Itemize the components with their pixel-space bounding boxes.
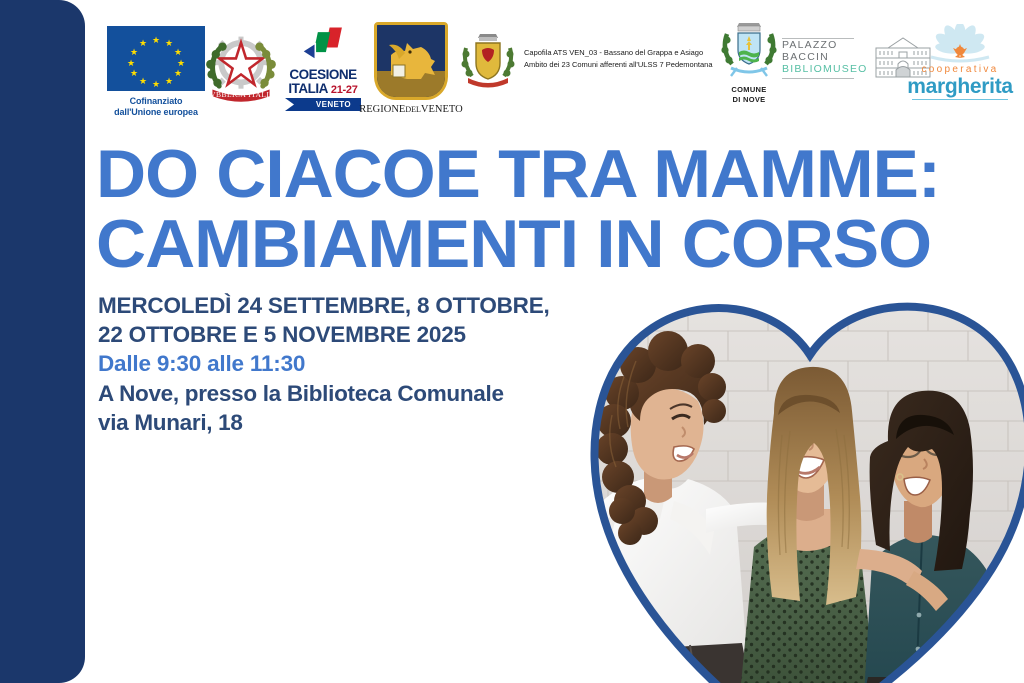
margherita-rule <box>912 99 1008 100</box>
bassano-text-line1: Capofila ATS VEN_03 - Bassano del Grappa… <box>524 47 713 59</box>
event-place-line1: A Nove, presso la Biblioteca Comunale <box>98 379 628 408</box>
eu-caption-line1: Cofinanziato <box>114 96 198 107</box>
margherita-line2: margherita <box>907 76 1013 98</box>
comune-di-nove-logo: COMUNE DI NOVE <box>717 18 781 105</box>
headline-line1: DO CIACOE TRA MAMME: <box>96 139 1014 209</box>
bassano-crest-icon <box>460 28 516 90</box>
coesione-line1: COESIONE <box>289 68 356 82</box>
headline-line2: CAMBIAMENTI IN CORSO <box>96 209 1014 279</box>
regione-veneto-logo: REGIONEDELVENETO <box>356 22 466 115</box>
eu-caption-line2: dall'Unione europea <box>114 107 198 118</box>
heart-photo-frame <box>578 295 1024 683</box>
comune-di-nove-crest-icon <box>721 18 777 84</box>
event-date-line1: MERCOLEDÌ 24 SETTEMBRE, 8 OTTOBRE, <box>98 291 628 320</box>
three-women-photo <box>578 295 1024 683</box>
event-info-block: MERCOLEDÌ 24 SETTEMBRE, 8 OTTOBRE, 22 OT… <box>98 291 628 437</box>
eu-caption: Cofinanziato dall'Unione europea <box>114 96 198 118</box>
svg-text:REPVBBLICA ITALIANA: REPVBBLICA ITALIANA <box>199 90 283 99</box>
comune-di-nove-caption: COMUNE DI NOVE <box>731 85 766 105</box>
event-date-line2: 22 OTTOBRE E 5 NOVEMBRE 2025 <box>98 320 628 349</box>
rv-cap2: DEL <box>405 105 421 114</box>
palazzo-baccin-line3: BIBLIOMUSEO <box>782 63 868 75</box>
palazzo-baccin-line1: PALAZZO <box>782 39 868 51</box>
cooperativa-margherita-logo: cooperativa margherita <box>908 24 1012 100</box>
coesione-region-badge: VENETO <box>285 98 361 111</box>
poster-canvas: ★ ★ ★ ★ ★ ★ ★ ★ ★ ★ ★ ★ Cofinanziato dal… <box>0 0 1024 683</box>
coesione-chevrons-icon <box>296 26 350 66</box>
coesione-line2: ITALIA <box>288 82 328 96</box>
daisy-flower-icon <box>917 24 1003 64</box>
left-accent-bar <box>0 0 85 683</box>
palazzo-baccin-line2: BACCIN <box>782 51 868 63</box>
poster-headline: DO CIACOE TRA MAMME: CAMBIAMENTI IN CORS… <box>96 139 1014 279</box>
regione-veneto-shield-icon <box>374 22 448 100</box>
eu-flag-icon: ★ ★ ★ ★ ★ ★ ★ ★ ★ ★ ★ ★ <box>107 26 205 91</box>
coesione-years: 21-27 <box>331 84 358 96</box>
event-time: Dalle 9:30 alle 11:30 <box>98 349 628 379</box>
bassano-text-line2: Ambito dei 23 Comuni afferenti all'ULSS … <box>524 59 713 71</box>
palazzo-baccin-rule-bottom <box>782 78 854 79</box>
rv-cap1: REGIONE <box>359 104 405 115</box>
repubblica-italiana-logo: REPVBBLICA ITALIANA <box>195 24 287 108</box>
rv-cap3: VENETO <box>421 104 463 115</box>
logo-strip: ★ ★ ★ ★ ★ ★ ★ ★ ★ ★ ★ ★ Cofinanziato dal… <box>100 8 1024 112</box>
nove-cap-line2: DI NOVE <box>731 95 766 105</box>
repubblica-italiana-emblem-icon: REPVBBLICA ITALIANA <box>199 24 283 108</box>
regione-veneto-caption: REGIONEDELVENETO <box>359 104 462 115</box>
ats-bassano-logo: Capofila ATS VEN_03 - Bassano del Grappa… <box>460 28 713 90</box>
nove-cap-line1: COMUNE <box>731 85 766 95</box>
bassano-text: Capofila ATS VEN_03 - Bassano del Grappa… <box>524 47 713 71</box>
coesione-italia-logo: COESIONE ITALIA 21-27 VENETO <box>280 26 366 111</box>
event-place-line2: via Munari, 18 <box>98 408 628 437</box>
palazzo-baccin-text: PALAZZO BACCIN BIBLIOMUSEO <box>782 34 868 80</box>
